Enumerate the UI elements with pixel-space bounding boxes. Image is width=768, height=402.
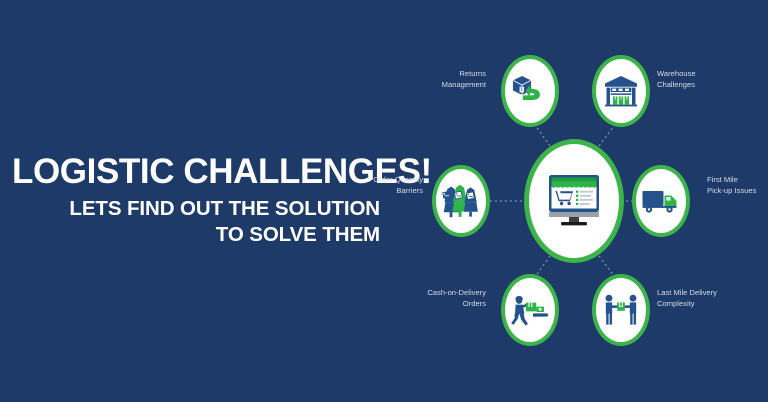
dress-navy-right-glyph: [464, 187, 478, 216]
stored-boxes-glyph: [613, 96, 629, 104]
warehouse-label-line-1: Warehouse: [657, 69, 757, 80]
price-tag-right-glyph: [466, 192, 474, 200]
person-left-glyph: [606, 295, 619, 325]
spoke-label-returns-management: Returns Management: [396, 69, 486, 90]
spoke-node-last-mile-delivery[interactable]: [592, 274, 650, 346]
price-tag-left-glyph: [442, 191, 450, 199]
spoke-node-cash-on-delivery[interactable]: [501, 274, 559, 346]
cod-label-line-2: Orders: [366, 299, 486, 310]
warehouse-icon: [603, 74, 639, 108]
subtitle-line-1: LETS FIND OUT THE SOLUTION: [0, 196, 380, 222]
spoke-label-cash-on-delivery: Cash-on-Delivery Orders: [366, 288, 486, 309]
returns-label-line-2: Management: [396, 80, 486, 91]
first-mile-label-line-1: First Mile: [707, 175, 768, 186]
spoke-label-warehouse-challenges: Warehouse Challenges: [657, 69, 757, 90]
page-subtitle: LETS FIND OUT THE SOLUTION TO SOLVE THEM: [0, 196, 382, 248]
headline-block: LOGISTIC CHALLENGES! LETS FIND OUT THE S…: [0, 152, 382, 248]
hub-and-spoke-diagram: Returns Management: [380, 0, 768, 402]
ecommerce-monitor-icon: [543, 173, 605, 229]
spoke-node-order-quantity-barriers[interactable]: [432, 165, 490, 237]
apparel-price-tag-icon: [440, 183, 482, 219]
person-right-glyph: [623, 295, 636, 325]
cod-label-line-1: Cash-on-Delivery: [366, 288, 486, 299]
last-mile-label-line-1: Last Mile Delivery: [657, 288, 768, 299]
handover-package-icon: [601, 293, 641, 327]
delivery-truck-icon: [641, 187, 681, 215]
returns-label-line-1: Returns: [396, 69, 486, 80]
first-mile-label-line-2: Pick-up Issues: [707, 186, 768, 197]
order-quantity-label-line-2: Barriers: [303, 186, 423, 197]
spoke-node-returns-management[interactable]: [501, 55, 559, 127]
return-box-arrow-icon: [511, 74, 549, 108]
hub-node-ecommerce[interactable]: [524, 139, 624, 263]
spoke-label-last-mile-delivery: Last Mile Delivery Complexity: [657, 288, 768, 309]
parcel-glyph: [526, 303, 536, 312]
spoke-node-warehouse-challenges[interactable]: [592, 55, 650, 127]
warehouse-label-line-2: Challenges: [657, 80, 757, 91]
order-quantity-label-line-1: Order Quantity: [303, 175, 423, 186]
logistic-challenges-banner: LOGISTIC CHALLENGES! LETS FIND OUT THE S…: [0, 0, 768, 402]
spoke-node-first-mile-pickup[interactable]: [632, 165, 690, 237]
spoke-label-order-quantity-barriers: Order Quantity Barriers: [303, 175, 423, 196]
last-mile-label-line-2: Complexity: [657, 299, 768, 310]
spoke-label-first-mile-pickup: First Mile Pick-up Issues: [707, 175, 768, 196]
cash-on-delivery-icon: [509, 293, 551, 327]
subtitle-line-2: TO SOLVE THEM: [0, 222, 380, 248]
price-tag-center-glyph: [454, 191, 462, 199]
